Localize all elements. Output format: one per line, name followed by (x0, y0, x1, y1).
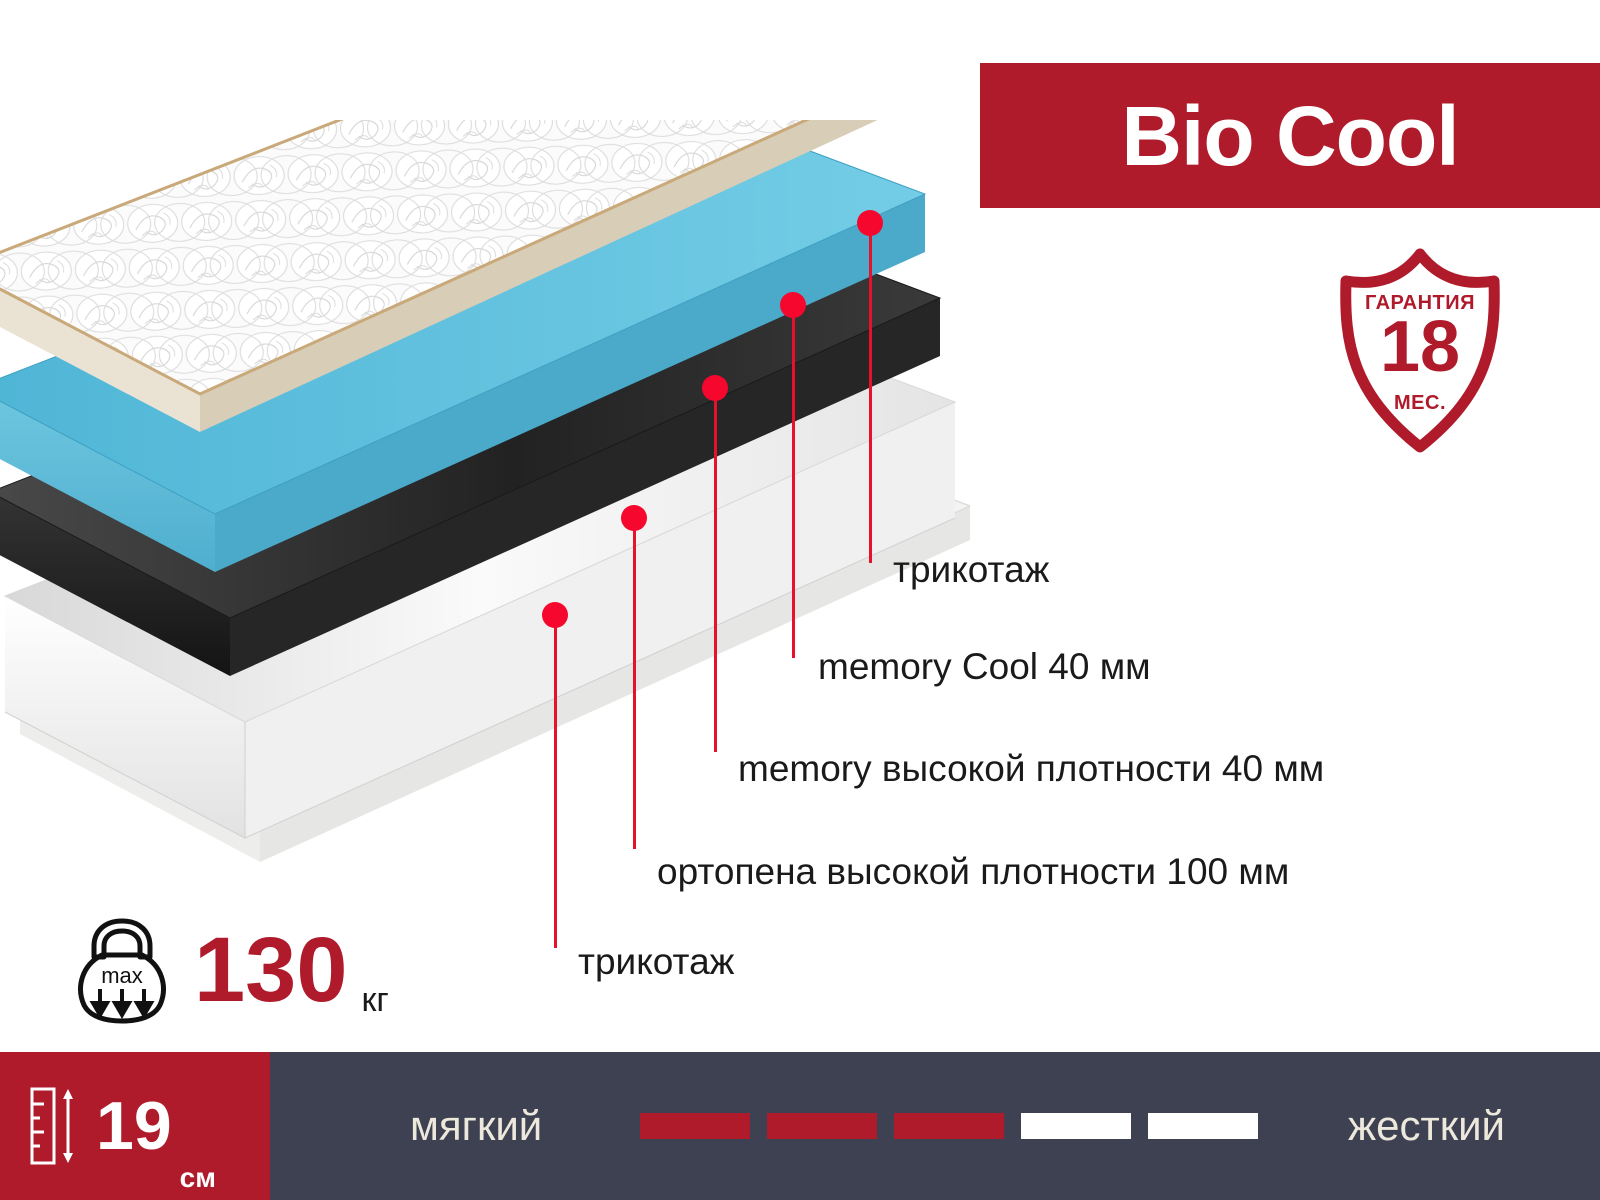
ruler-icon (30, 1087, 78, 1165)
max-weight-unit: кг (362, 983, 389, 1025)
firmness-segment-1 (640, 1113, 750, 1139)
layer-label-knit-bottom: трикотаж (578, 943, 734, 980)
firmness-segment-4 (1021, 1113, 1131, 1139)
layer-label-orthofoam-high-density: ортопена высокой плотности 100 мм (657, 853, 1289, 890)
leader-dot-knit-bottom (542, 602, 568, 628)
warranty-number: 18 (1330, 311, 1510, 383)
leader-line-knit-top (869, 223, 872, 563)
firmness-hard-label: жесткий (1348, 1105, 1505, 1147)
bottom-spec-bar: 19 см мягкий жесткий (0, 1052, 1600, 1200)
leader-dot-knit-top (857, 210, 883, 236)
leader-line-memory-high-density (714, 388, 717, 752)
leader-line-knit-bottom (554, 615, 557, 948)
firmness-panel: мягкий жесткий (270, 1052, 1600, 1200)
firmness-soft-label: мягкий (410, 1105, 542, 1147)
kettlebell-max-text: max (101, 963, 143, 988)
kettlebell-icon: max (72, 915, 172, 1025)
warranty-badge: ГАРАНТИЯ 18 МЕС. (1330, 248, 1510, 453)
warranty-bottom-label: МЕС. (1330, 392, 1510, 415)
height-unit: см (180, 1164, 216, 1200)
firmness-segment-5 (1148, 1113, 1258, 1139)
max-weight-value: 130 (194, 924, 348, 1016)
mattress-exploded-diagram (0, 120, 970, 910)
height-panel: 19 см (0, 1052, 270, 1200)
layer-label-memory-cool: memory Cool 40 мм (818, 648, 1151, 685)
brand-title: Bio Cool (1121, 94, 1458, 178)
infographic-canvas: Bio Cool ГАРАНТИЯ 18 МЕС. (0, 0, 1600, 1200)
brand-title-bar: Bio Cool (980, 63, 1600, 208)
layer-label-memory-high-density: memory высокой плотности 40 мм (738, 750, 1324, 787)
firmness-scale (640, 1113, 1258, 1139)
firmness-segment-2 (767, 1113, 877, 1139)
leader-dot-memory-cool (780, 292, 806, 318)
height-value: 19 (96, 1092, 172, 1160)
leader-dot-orthofoam-high-density (621, 505, 647, 531)
leader-line-memory-cool (792, 305, 795, 658)
firmness-segment-3 (894, 1113, 1004, 1139)
leader-line-orthofoam-high-density (633, 518, 636, 849)
max-weight-block: max 130 кг (72, 915, 389, 1025)
leader-dot-memory-high-density (702, 375, 728, 401)
layer-label-knit-top: трикотаж (893, 551, 1049, 588)
